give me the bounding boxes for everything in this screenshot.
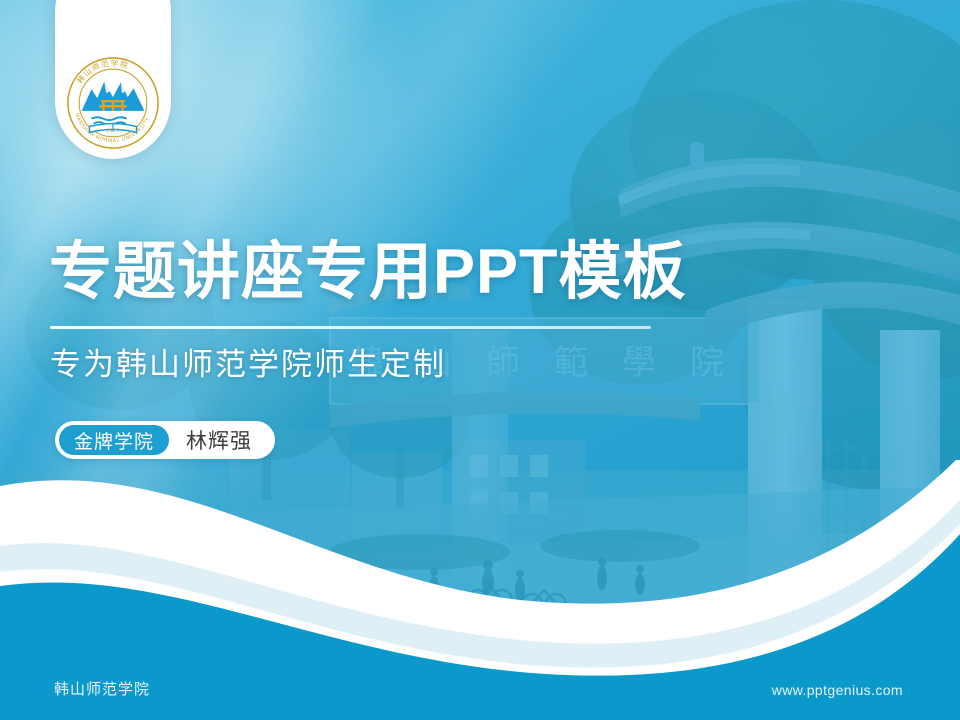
footer-website[interactable]: www.pptgenius.com — [772, 682, 903, 698]
page-subtitle: 专为韩山师范学院师生定制 — [50, 346, 446, 385]
presenter-name: 林辉强 — [169, 425, 271, 455]
svg-text:1903: 1903 — [106, 128, 120, 134]
title-divider — [50, 326, 651, 329]
page-title: 专题讲座专用PPT模板 — [49, 241, 687, 304]
footer-school-name: 韩山师范学院 — [54, 678, 150, 699]
presenter-badge: 金牌学院 林辉强 — [55, 421, 275, 459]
badge-tag-label: 金牌学院 — [59, 425, 169, 455]
presentation-title-slide: 韓 山 師 範 學 院 — [0, 0, 960, 720]
university-seal-icon: 韩山师范学院 HANSHAN NORMAL UNIVERSITY 1903 — [64, 54, 162, 152]
